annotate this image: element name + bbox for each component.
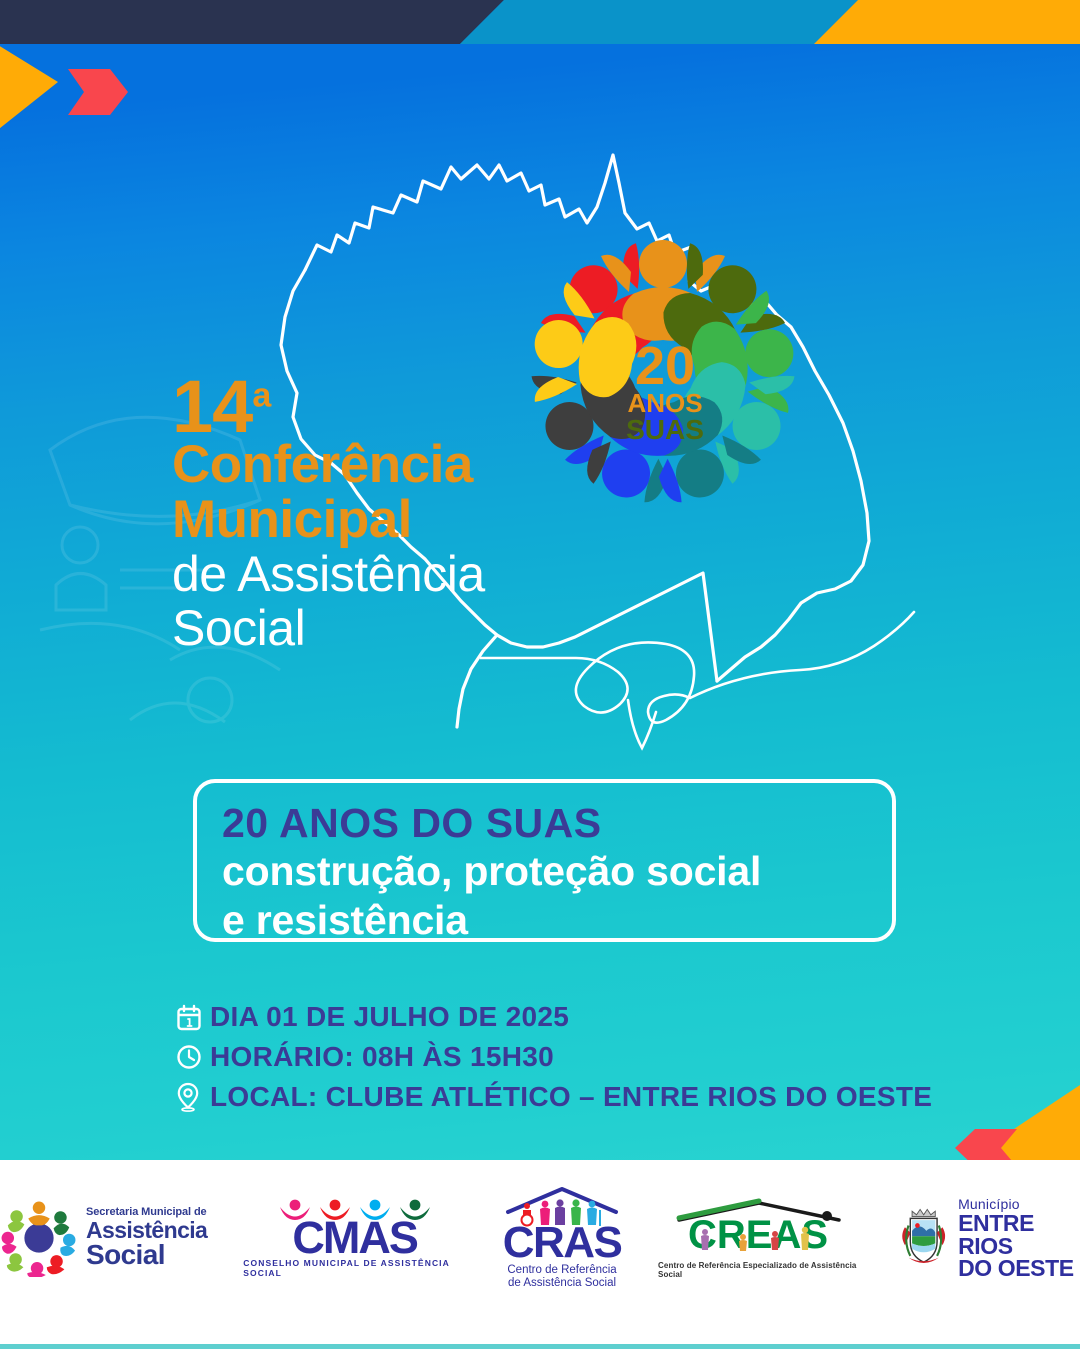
edition-ordinal: a <box>252 376 270 414</box>
event-details: DIA 01 DE JULHO DE 2025 HORÁRIO: 08H ÀS … <box>176 1000 1016 1120</box>
top-decorative-stripes <box>0 0 1080 44</box>
poster-root: 20 ANOS SUAS 14a Conferência Municipal d… <box>0 0 1080 1350</box>
cras-acronym: CRAS <box>503 1226 622 1260</box>
clock-icon <box>176 1042 210 1072</box>
title-line-de-assistencia: de Assistência <box>172 547 732 601</box>
cmas-subtitle: CONSELHO MUNICIPAL DE ASSISTÊNCIA SOCIAL <box>243 1258 466 1278</box>
municipio-line1: Município <box>958 1197 1080 1211</box>
people-circle-icon <box>0 1199 78 1277</box>
detail-text-date: DIA 01 DE JULHO DE 2025 <box>210 1001 569 1033</box>
logo-creas: CREAS Centro <box>658 1198 860 1279</box>
calendar-icon <box>176 1002 210 1032</box>
secretaria-line3: Social <box>86 1241 207 1269</box>
top-red-chevron-icon <box>68 69 130 115</box>
detail-row-time: HORÁRIO: 08H ÀS 15H30 <box>176 1040 1016 1074</box>
cras-subtitle: Centro de Referência de Assistência Soci… <box>507 1264 616 1290</box>
edition-number-line: 14a <box>172 372 732 442</box>
logo-municipio-entre-rios-do-oeste: Município ENTRE RIOS DO OESTE <box>896 1197 1080 1280</box>
logo-secretaria-assistencia-social: Secretaria Municipal de Assistência Soci… <box>0 1199 207 1277</box>
logo-cras: CRAS Centro de Referência de Assistência… <box>502 1186 622 1290</box>
location-pin-icon <box>176 1082 210 1112</box>
logo-secretaria-text: Secretaria Municipal de Assistência Soci… <box>86 1207 207 1269</box>
creas-subtitle: Centro de Referência Especializado de As… <box>658 1261 860 1279</box>
detail-row-location: LOCAL: CLUBE ATLÉTICO – ENTRE RIOS DO OE… <box>176 1080 1016 1114</box>
cras-subtitle-line2: de Assistência Social <box>507 1277 616 1290</box>
coat-of-arms-icon <box>896 1202 951 1274</box>
tagline-line-3: e resistência <box>222 896 892 944</box>
municipio-line3: DO OESTE <box>958 1257 1080 1280</box>
detail-text-time: HORÁRIO: 08H ÀS 15H30 <box>210 1041 554 1073</box>
municipio-text: Município ENTRE RIOS DO OESTE <box>958 1197 1080 1280</box>
tagline-line-2: construção, proteção social <box>222 847 892 895</box>
footer-bottom-rule <box>0 1344 1080 1349</box>
title-line-conferencia: Conferência <box>172 438 732 493</box>
detail-text-location: LOCAL: CLUBE ATLÉTICO – ENTRE RIOS DO OE… <box>210 1081 932 1113</box>
municipio-line2: ENTRE RIOS <box>958 1212 1080 1258</box>
footer-logos-bar: Secretaria Municipal de Assistência Soci… <box>0 1160 1080 1350</box>
cmas-acronym: CMAS <box>292 1220 417 1256</box>
title-line-social: Social <box>172 601 732 655</box>
detail-row-date: DIA 01 DE JULHO DE 2025 <box>176 1000 1016 1034</box>
tagline-line-1: 20 ANOS DO SUAS <box>222 799 892 847</box>
tagline-box: 20 ANOS DO SUAS construção, proteção soc… <box>193 779 896 942</box>
creas-house-figures-icon: CREAS <box>671 1198 846 1260</box>
logo-cmas: CMAS CONSELHO MUNICIPAL DE ASSISTÊNCIA S… <box>243 1198 466 1278</box>
title-line-municipal: Municipal <box>172 493 732 548</box>
cras-subtitle-line1: Centro de Referência <box>507 1264 616 1277</box>
poster-title-block: 14a Conferência Municipal de Assistência… <box>172 372 732 655</box>
